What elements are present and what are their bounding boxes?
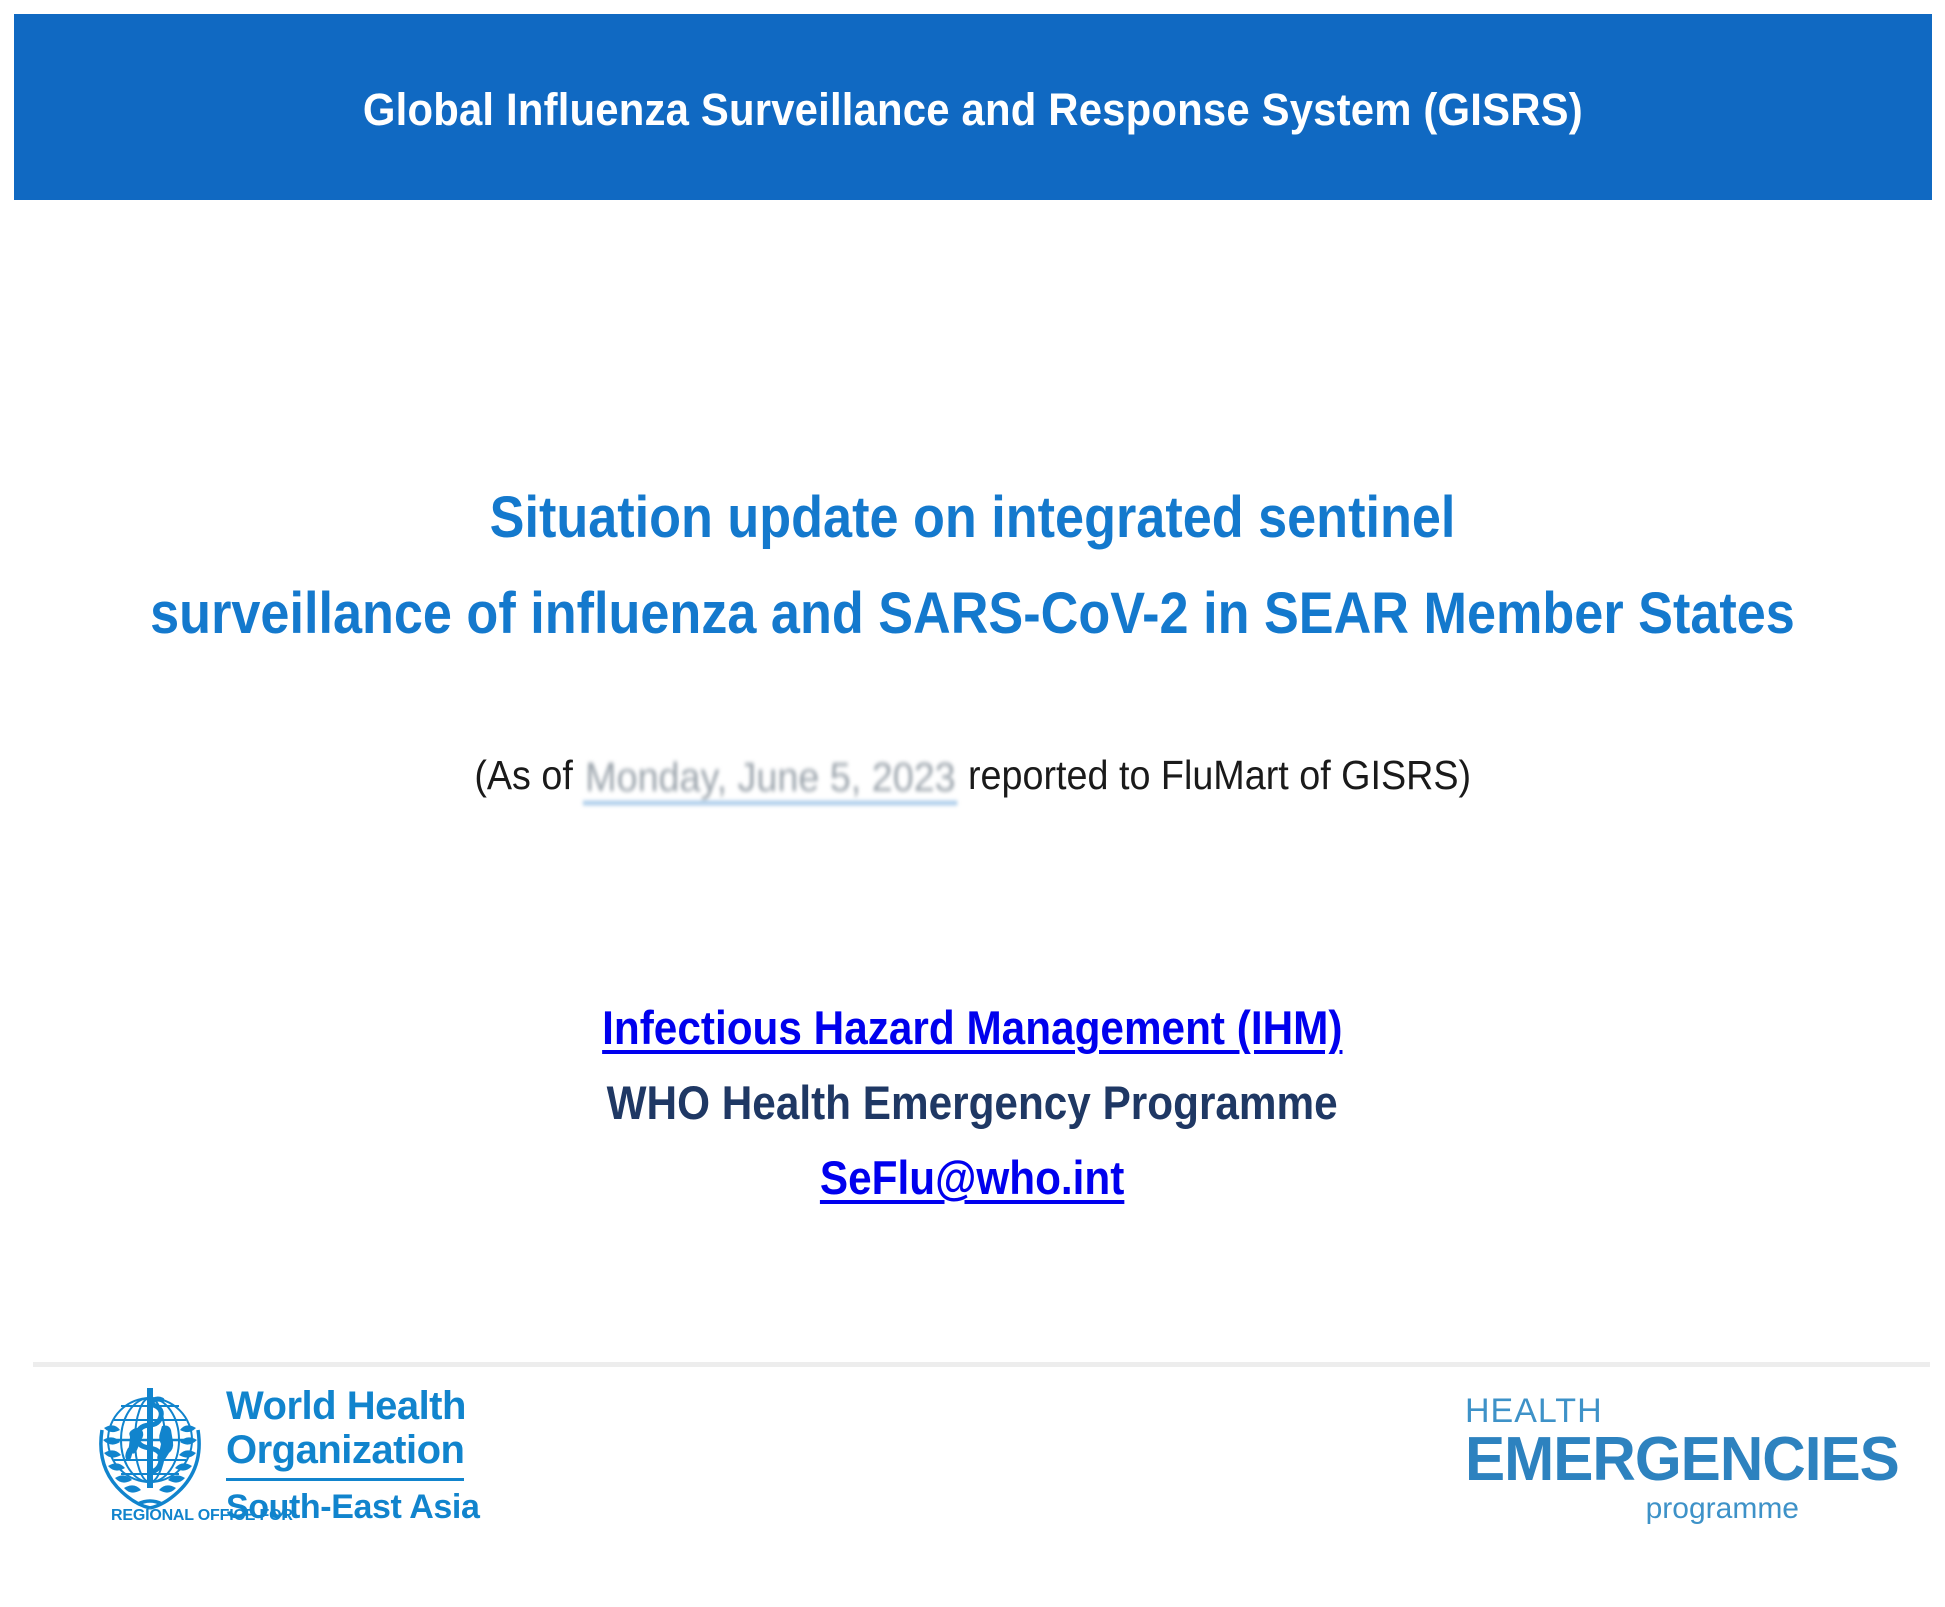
- who-name-line-2: Organization: [226, 1428, 479, 1472]
- slide-title-line-2: surveillance of influenza and SARS-CoV-2…: [97, 566, 1848, 662]
- header-banner: Global Influenza Surveillance and Respon…: [14, 14, 1932, 200]
- contact-email-inner: SeFlu@who.int: [820, 1140, 1124, 1215]
- footer-divider: [33, 1362, 1930, 1367]
- health-emergencies-line-1: HEALTH: [1465, 1393, 1865, 1429]
- as-of-prefix: (As of: [474, 752, 583, 798]
- health-emergencies-line-3: programme: [1465, 1491, 1799, 1527]
- who-wordmark: World Health Organization REGIONAL OFFIC…: [226, 1378, 479, 1527]
- who-logo: World Health Organization REGIONAL OFFIC…: [88, 1378, 479, 1527]
- who-name-line-1: World Health: [226, 1384, 479, 1428]
- contact-unit-inner: Infectious Hazard Management (IHM): [602, 990, 1342, 1065]
- header-banner-title: Global Influenza Surveillance and Respon…: [363, 86, 1583, 133]
- slide-title-block: Situation update on integrated sentinel …: [0, 470, 1945, 662]
- health-emergencies-logo: HEALTH EMERGENCIES programme: [1465, 1393, 1865, 1527]
- contact-unit-line: Infectious Hazard Management (IHM): [0, 990, 1945, 1065]
- slide-title-line-1: Situation update on integrated sentinel: [97, 470, 1848, 566]
- as-of-suffix: reported to FluMart of GISRS): [957, 752, 1471, 798]
- infectious-hazard-management-link[interactable]: Infectious Hazard Management (IHM): [602, 1001, 1342, 1054]
- email-link[interactable]: SeFlu@who.int: [820, 1151, 1124, 1204]
- contact-email-line: SeFlu@who.int: [0, 1140, 1945, 1215]
- as-of-line: (As of Monday, June 5, 2023 reported to …: [0, 752, 1945, 803]
- who-wordmark-rule: [226, 1478, 464, 1481]
- health-emergencies-line-2: EMERGENCIES: [1465, 1429, 1853, 1491]
- who-region-row: REGIONAL OFFICE FOR South-East Asia: [226, 1488, 479, 1527]
- as-of-date: Monday, June 5, 2023: [583, 754, 957, 805]
- contact-programme-line: WHO Health Emergency Programme: [0, 1065, 1945, 1140]
- who-health-emergency-programme-label: WHO Health Emergency Programme: [607, 1065, 1338, 1140]
- who-emblem-icon: [88, 1378, 212, 1510]
- contact-block: Infectious Hazard Management (IHM) WHO H…: [0, 990, 1945, 1215]
- as-of-inner: (As of Monday, June 5, 2023 reported to …: [474, 752, 1471, 803]
